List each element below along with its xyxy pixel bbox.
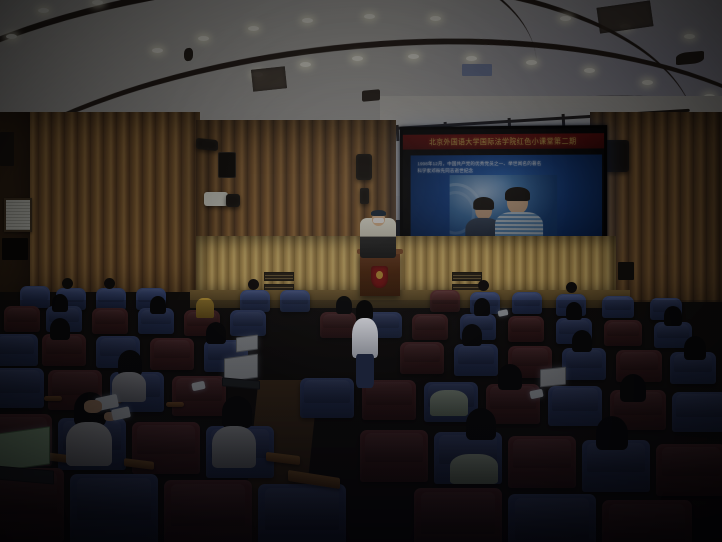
attendee-torso bbox=[430, 390, 468, 416]
stage-vent bbox=[264, 272, 294, 281]
ceiling-downlight bbox=[300, 62, 311, 67]
ceiling-downlight bbox=[560, 16, 571, 21]
seat bbox=[360, 430, 428, 482]
seat-cushion bbox=[552, 388, 597, 410]
ceiling-speaker bbox=[184, 48, 193, 62]
attendee-head bbox=[62, 278, 73, 289]
attendee-head bbox=[566, 282, 577, 293]
seat bbox=[548, 386, 602, 426]
ceiling-vent bbox=[251, 66, 287, 91]
ceiling-downlight bbox=[248, 26, 259, 31]
photo-person-left-hair bbox=[473, 197, 494, 210]
seat bbox=[230, 310, 266, 336]
attendee-phone bbox=[497, 309, 508, 317]
seat bbox=[4, 306, 40, 332]
wall-speaker bbox=[356, 154, 372, 180]
seat bbox=[656, 444, 722, 496]
seat bbox=[508, 494, 596, 542]
seat-cushion bbox=[609, 504, 685, 542]
attendee-phone bbox=[529, 389, 543, 400]
seat bbox=[300, 378, 354, 418]
wall-equipment bbox=[618, 262, 634, 280]
ceiling-downlight bbox=[152, 48, 163, 53]
attendee bbox=[52, 294, 68, 312]
seat bbox=[258, 484, 346, 542]
seat bbox=[508, 316, 544, 342]
ceiling-downlight bbox=[526, 60, 537, 65]
screen-banner-text: 北京外国语大学国际法学院红色小课堂第二期 bbox=[429, 136, 576, 148]
standing-attendee-head bbox=[356, 300, 373, 320]
attendee-torso bbox=[66, 422, 112, 466]
seat-cushion bbox=[7, 308, 37, 323]
seat-cushion bbox=[22, 287, 47, 299]
seat bbox=[280, 290, 310, 312]
screen-banner: 北京外国语大学国际法学院红色小课堂第二期 bbox=[403, 133, 604, 149]
seat-cushion bbox=[0, 370, 40, 392]
attendee-torso bbox=[212, 426, 256, 468]
seat bbox=[602, 500, 692, 542]
presentation-slide: 1998年12月，中国共产党的优秀党员之一、举世闻名的著名 科学家邓稼先同志逝世… bbox=[411, 155, 602, 248]
seat-armrest bbox=[166, 402, 184, 407]
wall-speaker bbox=[226, 194, 240, 207]
stage-back-wall bbox=[196, 236, 616, 298]
wall-monitor bbox=[218, 152, 236, 178]
seat bbox=[70, 474, 158, 542]
attendee bbox=[684, 336, 706, 360]
attendee-head bbox=[104, 278, 115, 289]
attendee-laptop bbox=[540, 367, 566, 388]
seat-cushion bbox=[77, 478, 151, 519]
stage-vent bbox=[452, 272, 482, 281]
seat bbox=[20, 286, 50, 308]
seat bbox=[240, 290, 270, 312]
attendee bbox=[150, 296, 166, 314]
ceiling-downlight bbox=[302, 18, 313, 23]
seat bbox=[430, 290, 460, 312]
seat-cushion bbox=[154, 340, 191, 358]
seat bbox=[562, 348, 606, 380]
presenter-cap bbox=[371, 210, 386, 216]
seat bbox=[92, 308, 128, 334]
wall-control-panel bbox=[204, 192, 228, 206]
seat bbox=[320, 312, 356, 338]
seat-cushion bbox=[566, 350, 603, 368]
attendee-phone bbox=[111, 406, 131, 421]
attendee bbox=[50, 318, 70, 340]
wall-speaker bbox=[605, 140, 629, 172]
attendee bbox=[474, 298, 490, 316]
attendee bbox=[206, 322, 226, 344]
projection-screen: 北京外国语大学国际法学院红色小课堂第二期 1998年12月，中国共产党的优秀党员… bbox=[400, 125, 607, 253]
seat-cushion bbox=[514, 293, 539, 305]
ceiling-downlight bbox=[38, 8, 49, 13]
attendee bbox=[566, 302, 582, 320]
photo-person-right-hair bbox=[505, 187, 530, 201]
seat bbox=[508, 436, 576, 488]
ceiling-downlight bbox=[198, 36, 209, 41]
presenter-face-mask bbox=[373, 218, 384, 223]
seat-cushion bbox=[171, 484, 245, 525]
slide-photo bbox=[450, 175, 558, 246]
seat-cushion bbox=[304, 380, 349, 402]
wall-panel-dark bbox=[2, 238, 28, 260]
seat bbox=[0, 368, 44, 408]
seat bbox=[412, 314, 448, 340]
seat-cushion bbox=[415, 316, 445, 331]
seat-cushion bbox=[458, 346, 495, 364]
wall-panel-dark bbox=[0, 132, 14, 166]
ceiling-downlight bbox=[352, 56, 363, 61]
seat-cushion bbox=[365, 433, 422, 462]
seat-armrest bbox=[44, 396, 62, 401]
wall-speaker-small bbox=[360, 188, 369, 204]
seat bbox=[400, 342, 444, 374]
seat bbox=[0, 334, 38, 366]
attendee-laptop-green-document bbox=[0, 426, 50, 472]
seat-cushion bbox=[323, 314, 353, 329]
ceiling-downlight bbox=[430, 16, 441, 21]
ceiling-downlight bbox=[92, 0, 103, 5]
attendee bbox=[498, 364, 522, 390]
seat-cushion bbox=[421, 492, 495, 533]
seat-cushion bbox=[513, 439, 570, 468]
seat bbox=[604, 320, 642, 346]
ceiling-speaker bbox=[362, 89, 380, 102]
seat bbox=[672, 392, 722, 432]
attendee bbox=[466, 408, 496, 440]
slide-text-line2: 科学家邓稼先同志逝世纪念 bbox=[417, 167, 591, 175]
standing-attendee-body bbox=[352, 318, 378, 358]
ceiling-blue-panel bbox=[462, 64, 492, 76]
seat-cushion bbox=[512, 348, 549, 366]
standing-attendee-legs bbox=[356, 354, 374, 388]
attendee bbox=[620, 374, 646, 402]
seat-cushion bbox=[137, 425, 194, 454]
seat-cushion bbox=[662, 447, 721, 476]
seat-cushion bbox=[265, 488, 339, 529]
seat-cushion bbox=[515, 498, 589, 539]
attendee bbox=[462, 324, 482, 346]
ceiling-downlight bbox=[684, 34, 695, 39]
seat-cushion bbox=[676, 394, 722, 416]
seat bbox=[602, 296, 634, 318]
attendee bbox=[196, 298, 214, 318]
seat-cushion bbox=[432, 291, 457, 303]
wall-speaker bbox=[196, 138, 218, 151]
attendee-laptop-base bbox=[222, 377, 260, 389]
attendee-laptop bbox=[236, 334, 258, 352]
seat bbox=[414, 488, 502, 542]
auditorium-photo: 北京外国语大学国际法学院红色小课堂第二期 1998年12月，中国共产党的优秀党员… bbox=[0, 0, 722, 542]
ceiling-downlight bbox=[408, 54, 419, 59]
seat-cushion bbox=[98, 289, 123, 301]
attendee bbox=[664, 306, 682, 326]
attendee bbox=[596, 416, 628, 450]
seat bbox=[164, 480, 252, 542]
attendee-hand bbox=[84, 400, 102, 413]
seat-cushion bbox=[605, 297, 632, 309]
attendee bbox=[336, 296, 352, 314]
podium-crest bbox=[371, 266, 388, 288]
seat-cushion bbox=[607, 322, 639, 337]
seat bbox=[454, 344, 498, 376]
ceiling-downlight bbox=[584, 68, 595, 73]
attendee-head bbox=[478, 280, 489, 291]
seat-cushion bbox=[282, 291, 307, 303]
attendee-head bbox=[248, 279, 259, 290]
attendee bbox=[222, 396, 252, 428]
seat bbox=[512, 292, 542, 314]
seat bbox=[96, 288, 126, 310]
seat-cushion bbox=[95, 310, 125, 325]
attendee bbox=[572, 330, 592, 352]
ceiling-downlight bbox=[642, 80, 653, 85]
seat bbox=[150, 338, 194, 370]
notice-board bbox=[4, 198, 32, 232]
ceiling-downlight bbox=[466, 56, 477, 61]
seat-cushion bbox=[404, 344, 441, 362]
ceiling-downlight bbox=[364, 14, 375, 19]
attendee-torso bbox=[450, 454, 498, 484]
seat-cushion bbox=[620, 352, 659, 370]
seat-cushion bbox=[511, 318, 541, 333]
seat-cushion bbox=[233, 312, 263, 327]
seat-cushion bbox=[242, 291, 267, 303]
podium bbox=[360, 252, 400, 296]
ceiling-downlight bbox=[6, 34, 17, 39]
seat-cushion bbox=[0, 336, 34, 354]
